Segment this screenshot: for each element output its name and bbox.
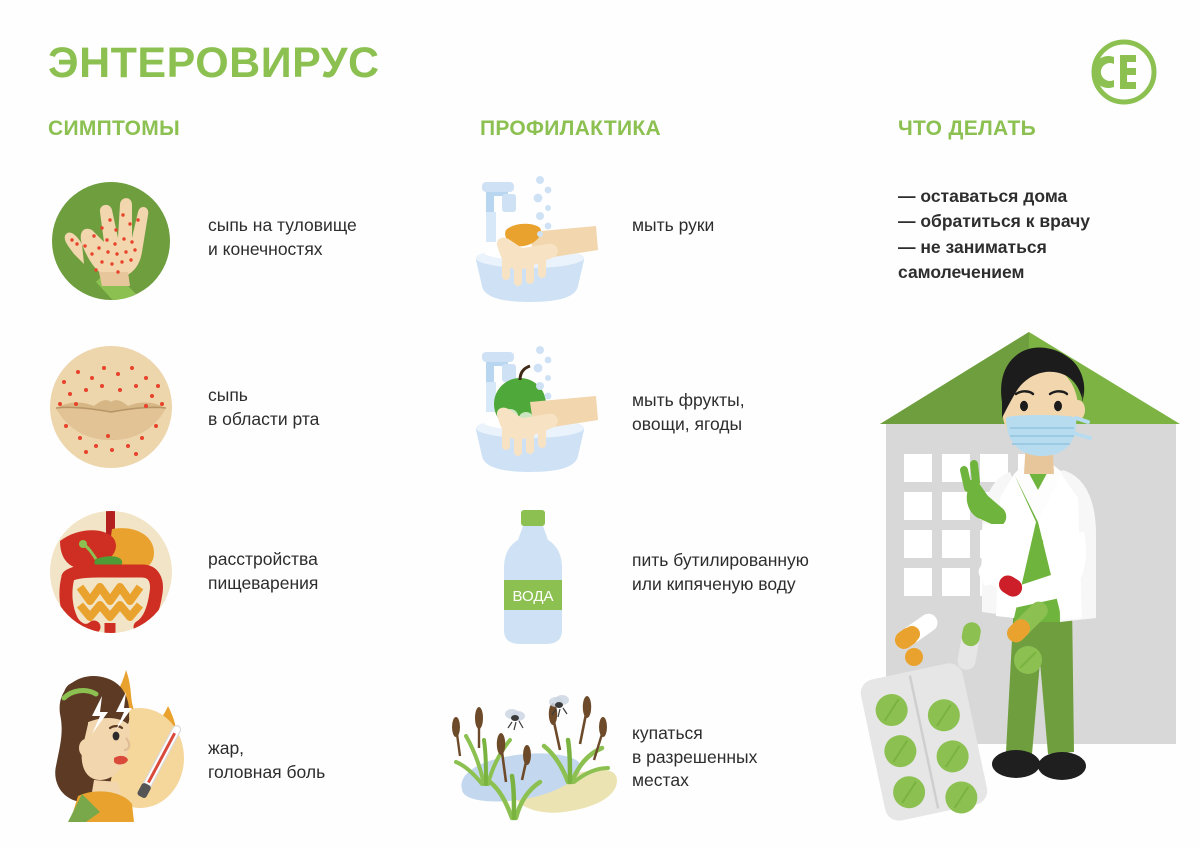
infographic-poster: ЭНТЕРОВИРУС СИМПТОМЫ ПРОФИЛАКТИКА ЧТО ДЕ… bbox=[0, 0, 1200, 849]
symptom-label-4: жар, головная боль bbox=[208, 737, 325, 784]
bottle-label-text: ВОДА bbox=[512, 588, 553, 605]
page-title: ЭНТЕРОВИРУС bbox=[48, 42, 380, 85]
column-heading-symptoms: СИМПТОМЫ bbox=[48, 118, 180, 139]
symptom-label-3: расстройства пищеварения bbox=[208, 548, 318, 595]
washing-fruit-icon bbox=[462, 338, 602, 478]
prevention-label-3: пить бутилированную или кипяченую воду bbox=[632, 549, 809, 596]
washing-hands-icon bbox=[462, 168, 602, 308]
fever-headache-icon bbox=[34, 662, 204, 822]
circular-monogram-logo bbox=[1090, 38, 1158, 106]
water-bottle-icon: ВОДА bbox=[490, 508, 576, 648]
column-heading-prevention: ПРОФИЛАКТИКА bbox=[480, 118, 661, 139]
what-to-do-list: — оставаться дома — обратиться к врачу —… bbox=[898, 184, 1090, 286]
list-item: — не заниматься самолечением bbox=[898, 235, 1090, 286]
prevention-label-1: мыть руки bbox=[632, 214, 714, 238]
mouth-rash-icon bbox=[50, 346, 172, 468]
prevention-label-4: купаться в разрешенных местах bbox=[632, 722, 757, 793]
pond-reeds-icon bbox=[444, 678, 630, 824]
column-heading-what-to-do: ЧТО ДЕЛАТЬ bbox=[898, 118, 1036, 139]
doctor-in-front-of-house-illustration bbox=[864, 322, 1194, 822]
list-item: — оставаться дома bbox=[898, 184, 1090, 209]
mosquito-icon bbox=[505, 709, 525, 730]
prevention-label-2: мыть фрукты, овощи, ягоды bbox=[632, 389, 745, 436]
hand-with-rash-icon bbox=[52, 182, 170, 300]
symptom-label-1: сыпь на туловище и конечностях bbox=[208, 214, 357, 261]
symptom-label-2: сыпь в области рта bbox=[208, 384, 319, 431]
digestive-system-icon bbox=[50, 511, 172, 633]
list-item: — обратиться к врачу bbox=[898, 209, 1090, 234]
